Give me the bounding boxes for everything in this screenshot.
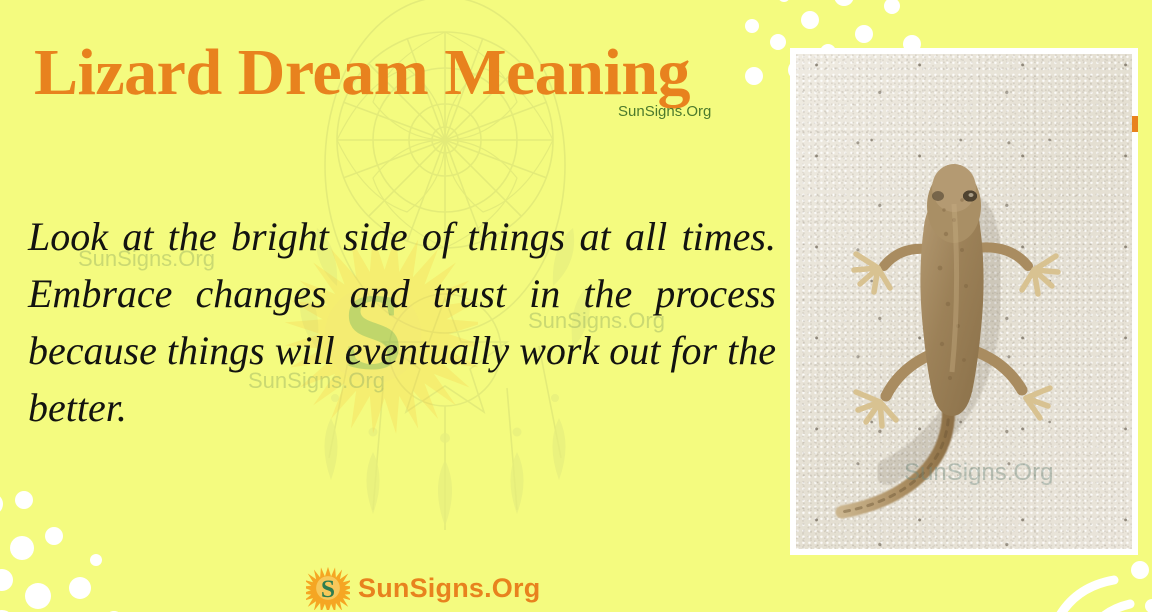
body-text: Look at the bright side of things at all… xyxy=(28,208,776,436)
dot-cluster-bottom-left-icon xyxy=(0,474,206,612)
sun-logo-icon: S xyxy=(306,566,350,610)
brand-logo[interactable]: S SunSigns.Org xyxy=(306,566,540,610)
photo-edge-marker xyxy=(1132,116,1138,132)
title-watermark: SunSigns.Org xyxy=(618,103,711,120)
brand-name: SunSigns.Org xyxy=(358,575,540,602)
svg-text:S: S xyxy=(321,574,335,603)
poster-canvas: S xyxy=(0,0,1152,612)
lizard-photo-frame: SunSigns.Org xyxy=(790,48,1138,555)
lizard-photo: SunSigns.Org xyxy=(796,54,1132,549)
page-title: Lizard Dream Meaning xyxy=(34,40,690,106)
photo-watermark: SunSigns.Org xyxy=(904,459,1053,487)
